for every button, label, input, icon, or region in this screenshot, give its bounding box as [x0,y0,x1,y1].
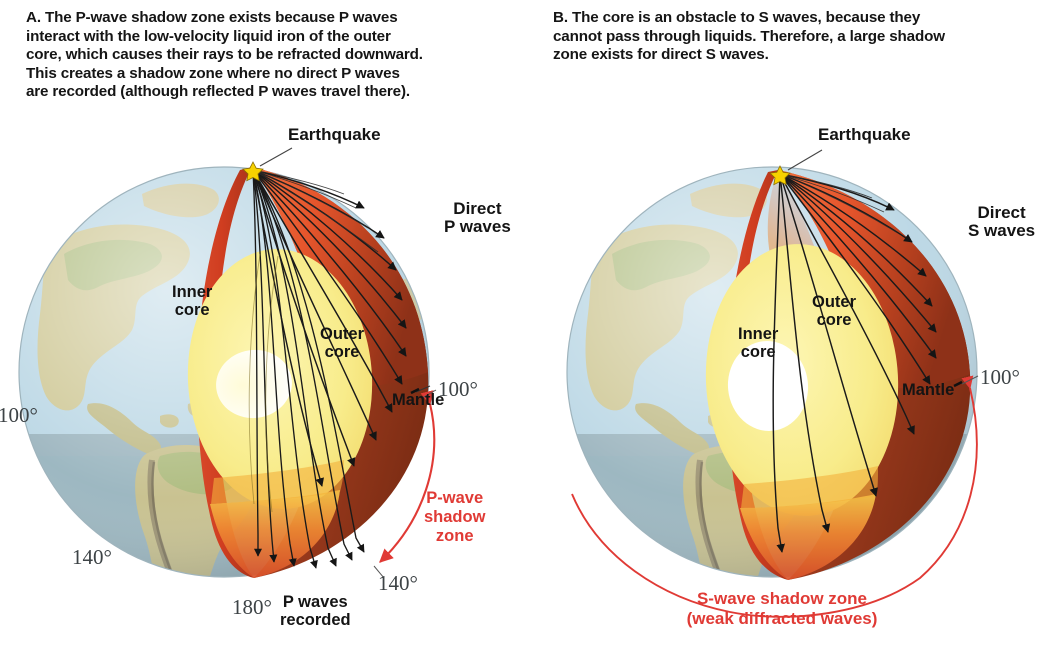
outer-core-line-1: Outer [320,326,364,344]
inner-core-line-1: Inner [172,284,212,302]
outer-core-label-a: Outer core [320,326,364,361]
caption-b-line-2: cannot pass through liquids. Therefore, … [553,28,1053,47]
caption-panel-b: B. The core is an obstacle to S waves, b… [553,9,1053,65]
outer-core-label-b: Outer core [812,294,856,329]
shadow-zone-line-2: shadow [424,508,485,527]
angle-right-100-b: 100° [980,366,1020,388]
shadow-zone-line-1: P-wave [424,489,485,508]
s-wave-shadow-zone-label: S-wave shadow zone (weak diffracted wave… [582,589,982,630]
caption-a-line-3: core, which causes their rays to be refr… [26,46,531,65]
inner-core-line-1: Inner [738,326,778,344]
diagram-panel-a: Earthquake Direct P waves Inner core Out… [0,104,522,654]
outer-core-line-2: core [320,344,364,362]
direct-s-waves-line-1: Direct [968,204,1035,222]
direct-s-waves-label: Direct S waves [968,204,1035,240]
earthquake-leader-line [260,148,292,166]
earthquake-leader-line [788,150,822,170]
caption-b-line-1: B. The core is an obstacle to S waves, b… [553,9,1053,28]
mantle-label-a: Mantle [392,392,444,410]
direct-p-waves-line-1: Direct [444,200,511,218]
angle-right-100-a: 100° [438,378,478,400]
angle-right-140-a: 140° [378,572,418,594]
diagram-panel-b: Earthquake Direct S waves Inner core Out… [540,104,1060,654]
p-wave-shadow-zone-label: P-wave shadow zone [424,489,485,545]
figure-root: A. The P-wave shadow zone exists because… [0,0,1060,654]
shadow-zone-line-3: zone [424,527,485,546]
direct-s-waves-line-2: S waves [968,222,1035,240]
s-shadow-zone-line-1: S-wave shadow zone [582,589,982,609]
outer-core-line-2: core [812,312,856,330]
caption-b-line-3: zone exists for direct S waves. [553,46,1053,65]
p-waves-recorded-line-2: recorded [280,612,351,630]
s-shadow-zone-line-2: (weak diffracted waves) [582,609,982,629]
inner-core-label-a: Inner core [172,284,212,319]
earthquake-label-b: Earthquake [818,126,911,144]
inner-core-line-2: core [738,344,778,362]
p-waves-recorded-label: P waves recorded [280,594,351,629]
inner-core-label-b: Inner core [738,326,778,361]
caption-a-line-4: This creates a shadow zone where no dire… [26,65,531,84]
caption-panel-a: A. The P-wave shadow zone exists because… [26,9,531,102]
caption-a-line-1: A. The P-wave shadow zone exists because… [26,9,531,28]
caption-a-line-5: are recorded (although reflected P waves… [26,83,531,102]
outer-core-line-1: Outer [812,294,856,312]
direct-p-waves-line-2: P waves [444,218,511,236]
angle-bottom-180-a: 180° [232,596,272,618]
angle-left-140-a: 140° [72,546,112,568]
earthquake-label-a: Earthquake [288,126,381,144]
p-waves-recorded-line-1: P waves [280,594,351,612]
direct-p-waves-label: Direct P waves [444,200,511,236]
angle-left-100-a: 100° [0,404,38,426]
inner-core-line-2: core [172,302,212,320]
mantle-label-b: Mantle [902,382,954,400]
caption-a-line-2: interact with the low-velocity liquid ir… [26,28,531,47]
